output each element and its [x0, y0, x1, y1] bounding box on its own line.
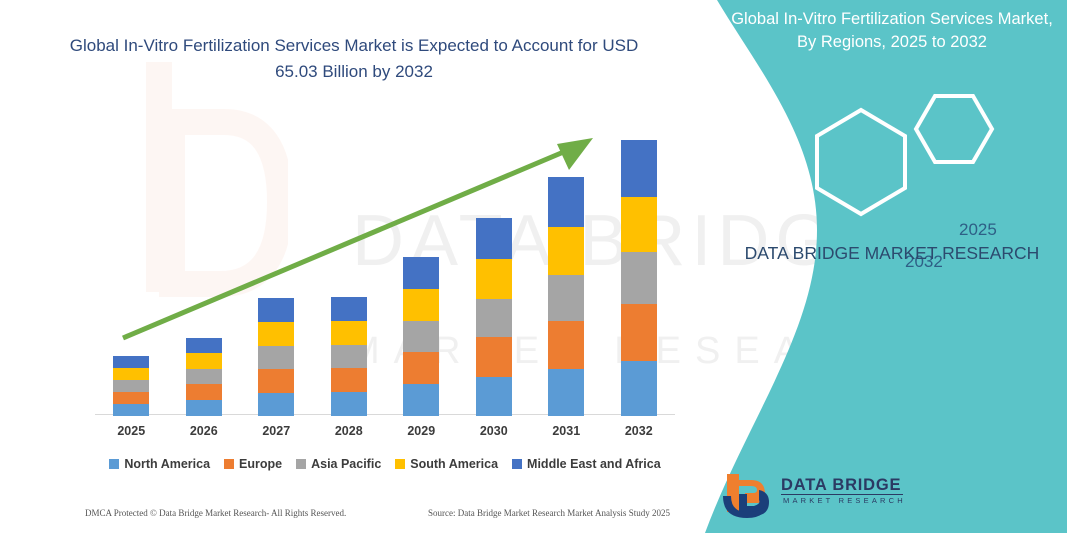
segment-north-america[interactable]	[258, 393, 294, 416]
x-axis-label-2028: 2028	[314, 424, 384, 438]
footer-copyright: DMCA Protected © Data Bridge Market Rese…	[85, 508, 346, 518]
company-logo: DATA BRIDGE MARKET RESEARCH	[721, 470, 921, 526]
segment-asia-pacific[interactable]	[621, 252, 657, 304]
x-axis-label-2031: 2031	[531, 424, 601, 438]
segment-middle-east-and-africa[interactable]	[621, 140, 657, 197]
x-axis-label-2026: 2026	[169, 424, 239, 438]
segment-europe[interactable]	[548, 321, 584, 369]
bar-2032[interactable]	[621, 140, 657, 416]
bar-2030[interactable]	[476, 218, 512, 416]
segment-north-america[interactable]	[621, 361, 657, 416]
panel-title: Global In-Vitro Fertilization Services M…	[727, 8, 1057, 54]
legend-item-south-america[interactable]: South America	[395, 457, 498, 471]
legend-label: Europe	[239, 457, 282, 471]
databridge-logo-icon	[721, 470, 777, 522]
bar-2026[interactable]	[186, 338, 222, 416]
legend-label: Asia Pacific	[311, 457, 381, 471]
segment-europe[interactable]	[258, 369, 294, 393]
segment-asia-pacific[interactable]	[476, 299, 512, 337]
logo-main-text: DATA BRIDGE	[781, 476, 901, 495]
segment-asia-pacific[interactable]	[113, 380, 149, 392]
bar-2029[interactable]	[403, 257, 439, 416]
segment-asia-pacific[interactable]	[403, 321, 439, 352]
bar-2028[interactable]	[331, 297, 367, 416]
legend-swatch-icon	[395, 459, 405, 469]
legend-item-north-america[interactable]: North America	[109, 457, 210, 471]
segment-middle-east-and-africa[interactable]	[331, 297, 367, 321]
segment-europe[interactable]	[476, 337, 512, 377]
segment-middle-east-and-africa[interactable]	[258, 298, 294, 322]
segment-asia-pacific[interactable]	[331, 345, 367, 368]
segment-south-america[interactable]	[113, 368, 149, 380]
segment-europe[interactable]	[113, 392, 149, 404]
legend-label: Middle East and Africa	[527, 457, 661, 471]
legend-swatch-icon	[109, 459, 119, 469]
hexagon-2032-shape	[817, 110, 905, 214]
segment-north-america[interactable]	[186, 400, 222, 416]
segment-south-america[interactable]	[548, 227, 584, 275]
segment-north-america[interactable]	[476, 377, 512, 416]
legend-label: North America	[124, 457, 210, 471]
x-axis-label-2029: 2029	[386, 424, 456, 438]
segment-south-america[interactable]	[258, 322, 294, 346]
segment-middle-east-and-africa[interactable]	[113, 356, 149, 368]
bar-2031[interactable]	[548, 177, 584, 416]
stacked-bar-plot	[95, 120, 675, 416]
segment-north-america[interactable]	[331, 392, 367, 416]
segment-middle-east-and-africa[interactable]	[548, 177, 584, 227]
segment-europe[interactable]	[186, 384, 222, 400]
footer-source: Source: Data Bridge Market Research Mark…	[428, 508, 670, 518]
legend-item-europe[interactable]: Europe	[224, 457, 282, 471]
bar-2027[interactable]	[258, 298, 294, 416]
hexagon-2025-label: 2025	[959, 220, 997, 240]
chart-area: Global In-Vitro Fertilization Services M…	[0, 0, 700, 533]
segment-north-america[interactable]	[113, 404, 149, 416]
logo-sub-text: MARKET RESEARCH	[783, 496, 906, 505]
x-axis-label-2027: 2027	[241, 424, 311, 438]
segment-south-america[interactable]	[403, 289, 439, 321]
segment-south-america[interactable]	[476, 259, 512, 299]
segment-asia-pacific[interactable]	[548, 275, 584, 321]
legend-swatch-icon	[512, 459, 522, 469]
legend-item-asia-pacific[interactable]: Asia Pacific	[296, 457, 381, 471]
legend-swatch-icon	[296, 459, 306, 469]
hexagon-badges: 2025 2032	[777, 92, 1057, 222]
logo-divider	[781, 494, 903, 495]
chart-legend: North AmericaEuropeAsia PacificSouth Ame…	[95, 455, 675, 473]
segment-middle-east-and-africa[interactable]	[476, 218, 512, 259]
x-axis-label-2030: 2030	[459, 424, 529, 438]
chart-title: Global In-Vitro Fertilization Services M…	[60, 33, 648, 85]
segment-asia-pacific[interactable]	[258, 346, 294, 369]
hexagon-2025-shape	[916, 96, 992, 162]
segment-south-america[interactable]	[331, 321, 367, 345]
right-panel-content: Global In-Vitro Fertilization Services M…	[707, 0, 1067, 533]
segment-middle-east-and-africa[interactable]	[403, 257, 439, 289]
x-axis-label-2032: 2032	[604, 424, 674, 438]
legend-swatch-icon	[224, 459, 234, 469]
segment-asia-pacific[interactable]	[186, 369, 222, 384]
segment-europe[interactable]	[403, 352, 439, 384]
segment-europe[interactable]	[621, 304, 657, 361]
panel-brand-text: DATA BRIDGE MARKET RESEARCH	[727, 240, 1057, 267]
segment-north-america[interactable]	[403, 384, 439, 416]
hexagon-shapes-icon	[777, 92, 1057, 222]
legend-item-middle-east-and-africa[interactable]: Middle East and Africa	[512, 457, 661, 471]
segment-middle-east-and-africa[interactable]	[186, 338, 222, 353]
x-axis-label-2025: 2025	[96, 424, 166, 438]
segment-south-america[interactable]	[186, 353, 222, 369]
bar-2025[interactable]	[113, 356, 149, 416]
segment-south-america[interactable]	[621, 197, 657, 252]
legend-label: South America	[410, 457, 498, 471]
segment-north-america[interactable]	[548, 369, 584, 416]
segment-europe[interactable]	[331, 368, 367, 392]
